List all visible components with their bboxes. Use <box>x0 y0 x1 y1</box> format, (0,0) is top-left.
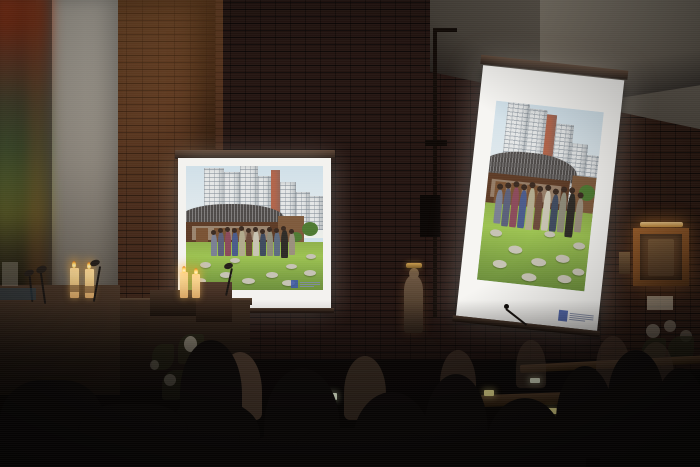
slide-person <box>246 232 252 256</box>
slide-person-head <box>281 226 286 231</box>
candle-2-band <box>85 286 94 293</box>
slide-person-head <box>239 226 244 231</box>
slide-person <box>211 234 217 256</box>
candle-1-band <box>70 285 79 292</box>
watermark-logo-icon <box>291 280 298 288</box>
slide-person <box>225 231 231 256</box>
slide-watermark <box>291 280 320 288</box>
stepping-stone <box>304 270 316 276</box>
phone-screen-glow <box>530 378 540 383</box>
wall-conduit-pipe <box>433 28 437 318</box>
picture-light-fixture <box>640 222 683 227</box>
hanok-tiled-roof <box>186 204 284 224</box>
station-of-the-cross-relief <box>648 239 674 276</box>
slide-person <box>260 233 266 256</box>
photograph-scene <box>0 0 700 467</box>
stepping-stone <box>200 262 211 268</box>
stepping-stone <box>266 272 278 278</box>
slide-person <box>281 230 288 258</box>
slide-person-head <box>253 227 258 232</box>
marian-statue <box>404 275 423 333</box>
slide-person-head <box>260 229 265 234</box>
candle-3 <box>180 272 188 298</box>
sanctuary-platform <box>0 285 120 395</box>
audience-member-shoulders <box>436 436 586 467</box>
wall-conduit-bracket <box>433 28 457 32</box>
wall-speaker <box>420 195 440 237</box>
small-framed-item <box>2 262 18 286</box>
slide-person <box>274 232 280 256</box>
candle-2 <box>85 269 94 298</box>
garden-bush <box>302 222 318 236</box>
slide-person <box>253 231 259 256</box>
candle-4 <box>192 274 200 298</box>
watermark-logo-icon <box>558 310 568 322</box>
slide-person <box>289 233 295 255</box>
slide-person-head <box>225 227 230 232</box>
slide-person-head <box>211 230 216 235</box>
presenter-pointer-tip <box>504 304 509 309</box>
slide-person <box>218 232 224 256</box>
phone-screen-glow <box>484 390 494 396</box>
slide-person-head <box>267 227 272 232</box>
slide-person-head <box>274 228 279 233</box>
right-projection-screen[interactable] <box>456 65 624 331</box>
audience-member-shoulders <box>296 428 426 467</box>
altar-cloth-item <box>0 288 36 300</box>
right-screen-assembly <box>453 63 628 335</box>
wall-speaker-bracket <box>425 140 447 146</box>
slide-person <box>267 231 273 256</box>
marian-statue-head <box>409 268 419 279</box>
station-label-plaque <box>647 296 673 310</box>
left-slide-image <box>186 166 323 290</box>
slide-person <box>232 232 238 256</box>
candle-1 <box>70 268 79 298</box>
candle-3-flame-icon <box>182 266 186 273</box>
slide-person-head <box>218 228 223 233</box>
colored-wall-wash-spill <box>30 0 56 300</box>
candle-1-flame-icon <box>72 261 76 268</box>
stepping-stone <box>306 254 316 259</box>
candle-4-flame-icon <box>194 268 198 275</box>
right-slide-image <box>477 101 604 292</box>
slide-watermark <box>558 310 594 325</box>
marian-statue-crown-icon <box>406 263 422 268</box>
slide-person <box>239 230 245 256</box>
slide-person-head <box>289 229 294 234</box>
slide-person-head <box>246 228 251 233</box>
wall-switch-box[interactable] <box>619 252 630 274</box>
stepping-stone <box>286 264 297 269</box>
audience-member <box>78 404 188 467</box>
audience-member <box>600 410 700 467</box>
slide-person-head <box>232 228 237 233</box>
stepping-stone <box>242 278 255 284</box>
watermark-text-lines <box>300 282 320 287</box>
watermark-text-lines <box>569 313 594 323</box>
